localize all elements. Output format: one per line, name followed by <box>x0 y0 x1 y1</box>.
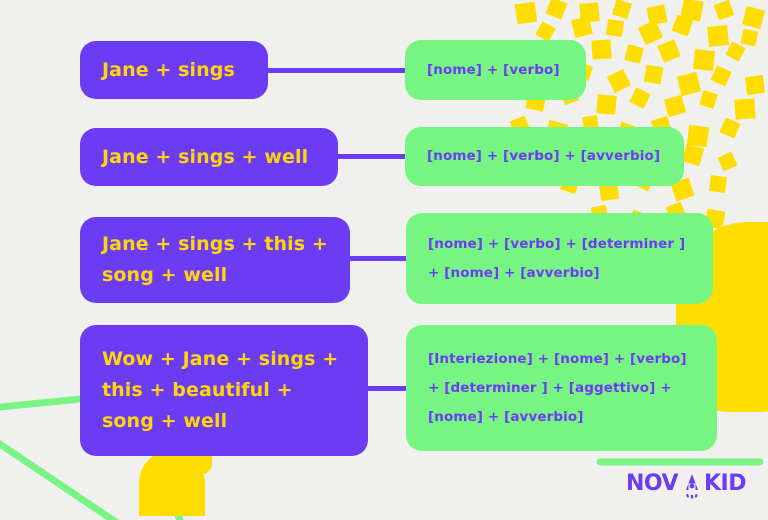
confetti-square <box>644 65 663 84</box>
confetti-square <box>725 41 745 61</box>
example-text-3: Jane + sings + this + song + well <box>102 229 328 291</box>
green-line-3 <box>172 500 196 520</box>
confetti-square <box>707 25 729 47</box>
confetti-square <box>699 90 718 109</box>
confetti-square <box>535 21 555 41</box>
confetti-square <box>657 39 680 62</box>
connector-line-2 <box>338 154 405 159</box>
novakid-logo[interactable]: NOV KID <box>626 468 752 502</box>
yellow-semicircle <box>139 450 205 516</box>
confetti-square <box>745 75 765 95</box>
confetti-square <box>591 39 611 59</box>
confetti-square <box>545 0 567 20</box>
pattern-card-4: [Interiezione] + [nome] + [verbo] + [det… <box>406 325 717 451</box>
connector-line-4 <box>368 386 406 391</box>
confetti-square <box>646 4 667 25</box>
confetti-square <box>672 15 694 37</box>
confetti-square <box>612 0 632 19</box>
example-card-1: Jane + sings <box>80 41 268 99</box>
infographic-canvas: Jane + sings[nome] + [verbo]Jane + sings… <box>0 0 768 520</box>
example-text-2: Jane + sings + well <box>102 142 308 173</box>
novakid-logo-mark: NOV KID <box>626 468 752 502</box>
confetti-square <box>693 49 715 71</box>
confetti-square <box>710 65 731 86</box>
connector-line-3 <box>350 256 406 261</box>
example-card-3: Jane + sings + this + song + well <box>80 217 350 303</box>
example-text-4: Wow + Jane + sings + this + beautiful + … <box>102 344 346 437</box>
rocket-flame-3 <box>694 494 697 498</box>
pattern-text-4: [Interiezione] + [nome] + [verbo] + [det… <box>428 345 695 432</box>
confetti-square <box>677 72 701 96</box>
pattern-text-1: [nome] + [verbo] <box>427 56 560 85</box>
example-text-1: Jane + sings <box>102 55 235 86</box>
confetti-square <box>664 95 686 117</box>
confetti-square <box>629 87 650 108</box>
confetti-square <box>571 16 593 38</box>
pattern-text-2: [nome] + [verbo] + [avverbio] <box>427 142 660 171</box>
pattern-card-2: [nome] + [verbo] + [avverbio] <box>405 127 684 186</box>
rocket-a-porthole <box>690 484 695 489</box>
confetti-square <box>680 0 703 22</box>
confetti-square <box>624 44 643 63</box>
confetti-square <box>741 29 759 47</box>
logo-text-kid: KID <box>704 471 746 496</box>
example-card-2: Jane + sings + well <box>80 128 338 186</box>
confetti-square <box>714 0 735 20</box>
confetti-square <box>596 94 617 115</box>
confetti-square <box>515 2 538 25</box>
rocket-flame-1 <box>686 494 689 498</box>
logo-text-nova: NOV <box>626 471 679 496</box>
confetti-square <box>682 144 704 166</box>
confetti-square <box>607 69 631 93</box>
confetti-square <box>742 6 765 29</box>
pattern-card-3: [nome] + [verbo] + [determiner ] + [nome… <box>406 213 713 304</box>
connector-line-1 <box>268 68 405 73</box>
confetti-square <box>638 20 663 45</box>
confetti-square <box>718 152 738 172</box>
pattern-text-3: [nome] + [verbo] + [determiner ] + [nome… <box>428 230 691 288</box>
rocket-flame-2 <box>691 495 693 499</box>
confetti-square <box>579 2 600 23</box>
example-card-4: Wow + Jane + sings + this + beautiful + … <box>80 325 368 456</box>
confetti-square <box>709 175 727 193</box>
confetti-square <box>687 125 710 148</box>
pattern-card-1: [nome] + [verbo] <box>405 40 586 100</box>
confetti-square <box>719 117 740 138</box>
confetti-square <box>606 19 624 37</box>
confetti-square <box>734 98 755 119</box>
